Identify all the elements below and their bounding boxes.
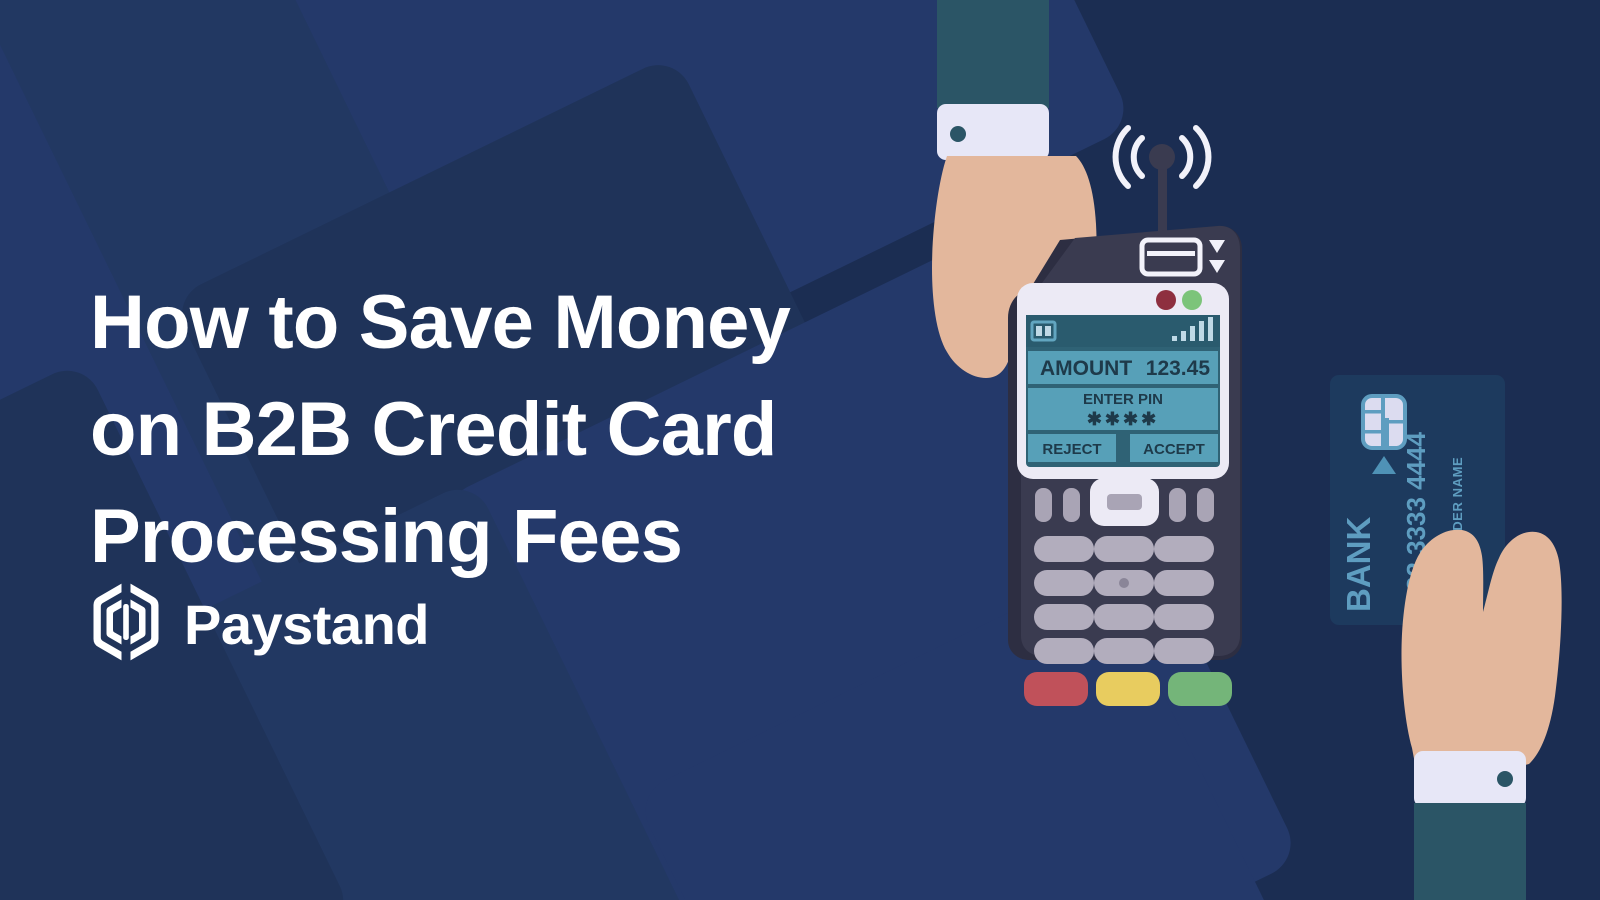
pin-mask: ✱✱✱✱ (1087, 409, 1159, 429)
bank-label: BANK (1340, 517, 1377, 612)
card-payment-terminal-illustration: AMOUNT 123.45 ENTER PIN ✱✱✱✱ REJECT ACCE… (900, 0, 1600, 900)
accept-button-label: ACCEPT (1143, 441, 1205, 458)
led-green (1182, 290, 1202, 310)
led-red (1156, 290, 1176, 310)
paystand-hexagon-logo-icon (90, 582, 162, 667)
pin-prompt: ENTER PIN (1083, 391, 1163, 408)
amount-label: AMOUNT (1040, 357, 1132, 380)
hero-banner: How to Save Money on B2B Credit Card Pro… (0, 0, 1600, 900)
headline-line-3: Processing Fees (90, 483, 920, 590)
cancel-key (1024, 672, 1088, 706)
reject-button-label: REJECT (1042, 441, 1101, 458)
terminal-screen: AMOUNT 123.45 ENTER PIN ✱✱✱✱ REJECT ACCE… (1026, 315, 1220, 467)
amount-value: 123.45 (1146, 357, 1211, 380)
enter-key (1168, 672, 1232, 706)
headline-line-1: How to Save Money (90, 269, 920, 376)
brand-wordmark: Paystand (184, 597, 429, 653)
page-title: How to Save Money on B2B Credit Card Pro… (90, 269, 920, 590)
brand-logo: Paystand (90, 582, 429, 667)
clear-key (1096, 672, 1160, 706)
headline-line-2: on B2B Credit Card (90, 376, 920, 483)
bottom-hand-group (1401, 530, 1561, 900)
